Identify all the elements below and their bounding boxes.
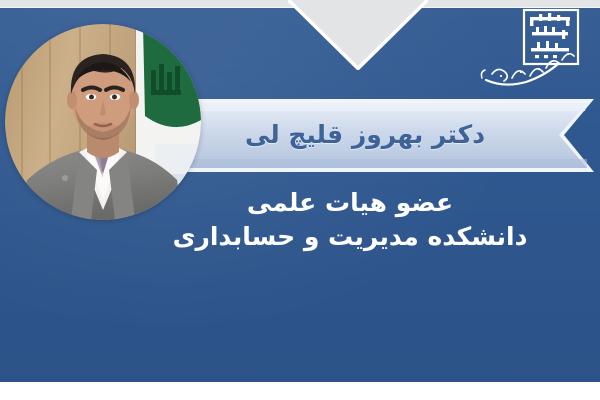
profile-banner: دکتر بهروز قلیچ لی عضو هیات علمی دانشکده… (0, 0, 600, 400)
person-name: دکتر بهروز قلیچ لی (150, 99, 580, 172)
role-line-1: عضو هیات علمی (140, 186, 560, 219)
shahid-beheshti-university-logo (478, 6, 590, 98)
faculty-member-portrait (5, 24, 201, 220)
chevron-down-notch (288, 0, 428, 72)
role-subtitle: عضو هیات علمی دانشکده مدیریت و حسابداری (140, 186, 560, 253)
role-line-2: دانشکده مدیریت و حسابداری (140, 220, 560, 253)
